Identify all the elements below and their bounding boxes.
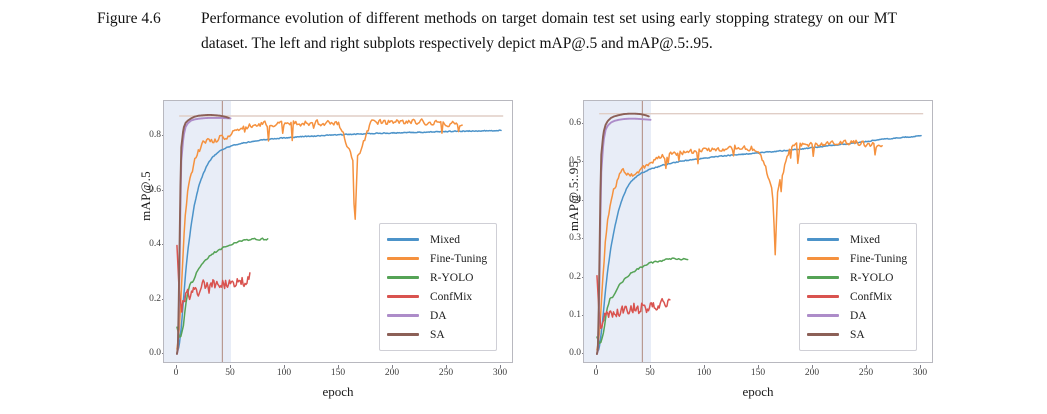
legend-label: SA — [850, 329, 865, 341]
legend-color-swatch — [807, 295, 839, 298]
x-tick-mark — [596, 365, 597, 368]
x-axis-ticks-right: 050100150200250300 — [583, 365, 933, 383]
x-tick-mark — [650, 365, 651, 368]
figure-body: mAP@.5 0.00.20.40.60.8 05010015020025030… — [0, 92, 1047, 414]
x-tick-mark — [866, 365, 867, 368]
early-stopping-shaded-region — [164, 101, 231, 363]
legend-left: MixedFine-TuningR-YOLOConfMixDASA — [379, 223, 497, 351]
legend-color-swatch — [807, 238, 839, 241]
x-tick-label: 50 — [630, 368, 670, 378]
y-tick-label: 0.1 — [547, 310, 581, 320]
legend-label: SA — [430, 329, 445, 341]
legend-label: ConfMix — [850, 291, 892, 303]
x-tick-mark — [704, 365, 705, 368]
y-tick-label: 0.8 — [127, 130, 161, 140]
legend-label: Mixed — [430, 234, 460, 246]
legend-label: DA — [430, 310, 447, 322]
legend-item-mixed[interactable]: Mixed — [387, 230, 487, 249]
x-tick-label: 200 — [792, 368, 832, 378]
x-tick-label: 150 — [318, 368, 358, 378]
legend-color-swatch — [387, 314, 419, 317]
x-tick-label: 250 — [426, 368, 466, 378]
x-tick-label: 0 — [156, 368, 196, 378]
legend-color-swatch — [387, 295, 419, 298]
x-tick-label: 250 — [846, 368, 886, 378]
x-tick-label: 100 — [264, 368, 304, 378]
x-tick-mark — [446, 365, 447, 368]
x-tick-mark — [230, 365, 231, 368]
y-tick-label: 0.4 — [547, 195, 581, 205]
legend-item-sa[interactable]: SA — [807, 325, 907, 344]
legend-label: Fine-Tuning — [850, 253, 907, 265]
y-tick-label: 0.3 — [547, 233, 581, 243]
x-tick-label: 0 — [576, 368, 616, 378]
legend-item-da[interactable]: DA — [807, 306, 907, 325]
x-tick-label: 300 — [900, 368, 940, 378]
x-tick-label: 150 — [738, 368, 778, 378]
legend-item-fine-tuning[interactable]: Fine-Tuning — [387, 249, 487, 268]
x-axis-label-left: epoch — [163, 384, 513, 400]
legend-label: R-YOLO — [430, 272, 473, 284]
figure-number: Figure 4.6 — [97, 6, 201, 31]
x-tick-label: 300 — [480, 368, 520, 378]
legend-right: MixedFine-TuningR-YOLOConfMixDASA — [799, 223, 917, 351]
legend-color-swatch — [387, 276, 419, 279]
x-tick-mark — [758, 365, 759, 368]
y-axis-ticks-left: 0.00.20.40.60.8 — [120, 100, 161, 363]
legend-item-sa[interactable]: SA — [387, 325, 487, 344]
x-tick-mark — [392, 365, 393, 368]
x-axis-label-right: epoch — [583, 384, 933, 400]
legend-label: Fine-Tuning — [430, 253, 487, 265]
x-tick-label: 200 — [372, 368, 412, 378]
x-tick-mark — [812, 365, 813, 368]
legend-color-swatch — [807, 333, 839, 336]
legend-item-da[interactable]: DA — [387, 306, 487, 325]
legend-item-r-yolo[interactable]: R-YOLO — [387, 268, 487, 287]
legend-color-swatch — [807, 276, 839, 279]
legend-item-r-yolo[interactable]: R-YOLO — [807, 268, 907, 287]
legend-item-confmix[interactable]: ConfMix — [387, 287, 487, 306]
x-axis-ticks-left: 050100150200250300 — [163, 365, 513, 383]
legend-item-mixed[interactable]: Mixed — [807, 230, 907, 249]
y-tick-label: 0.2 — [127, 294, 161, 304]
early-stopping-shaded-region — [584, 101, 651, 363]
legend-color-swatch — [387, 257, 419, 260]
legend-label: ConfMix — [430, 291, 472, 303]
y-tick-label: 0.0 — [547, 348, 581, 358]
figure-caption: Figure 4.6 Performance evolution of diff… — [97, 6, 897, 56]
y-tick-label: 0.4 — [127, 239, 161, 249]
y-tick-label: 0.6 — [127, 185, 161, 195]
x-tick-label: 50 — [210, 368, 250, 378]
figure-caption-text: Performance evolution of different metho… — [201, 6, 897, 56]
legend-label: Mixed — [850, 234, 880, 246]
x-tick-mark — [284, 365, 285, 368]
legend-color-swatch — [387, 333, 419, 336]
legend-color-swatch — [387, 238, 419, 241]
x-tick-label: 100 — [684, 368, 724, 378]
legend-color-swatch — [807, 314, 839, 317]
subplot-map5095: mAP@.5:.95 0.00.10.20.30.40.50.6 0501001… — [528, 92, 1047, 414]
y-tick-label: 0.0 — [127, 348, 161, 358]
legend-item-confmix[interactable]: ConfMix — [807, 287, 907, 306]
legend-label: R-YOLO — [850, 272, 893, 284]
y-tick-label: 0.6 — [547, 118, 581, 128]
x-tick-mark — [500, 365, 501, 368]
x-tick-mark — [338, 365, 339, 368]
y-tick-label: 0.5 — [547, 156, 581, 166]
x-tick-mark — [176, 365, 177, 368]
x-tick-mark — [920, 365, 921, 368]
legend-label: DA — [850, 310, 867, 322]
legend-item-fine-tuning[interactable]: Fine-Tuning — [807, 249, 907, 268]
y-tick-label: 0.2 — [547, 272, 581, 282]
y-axis-ticks-right: 0.00.10.20.30.40.50.6 — [540, 100, 581, 363]
legend-color-swatch — [807, 257, 839, 260]
